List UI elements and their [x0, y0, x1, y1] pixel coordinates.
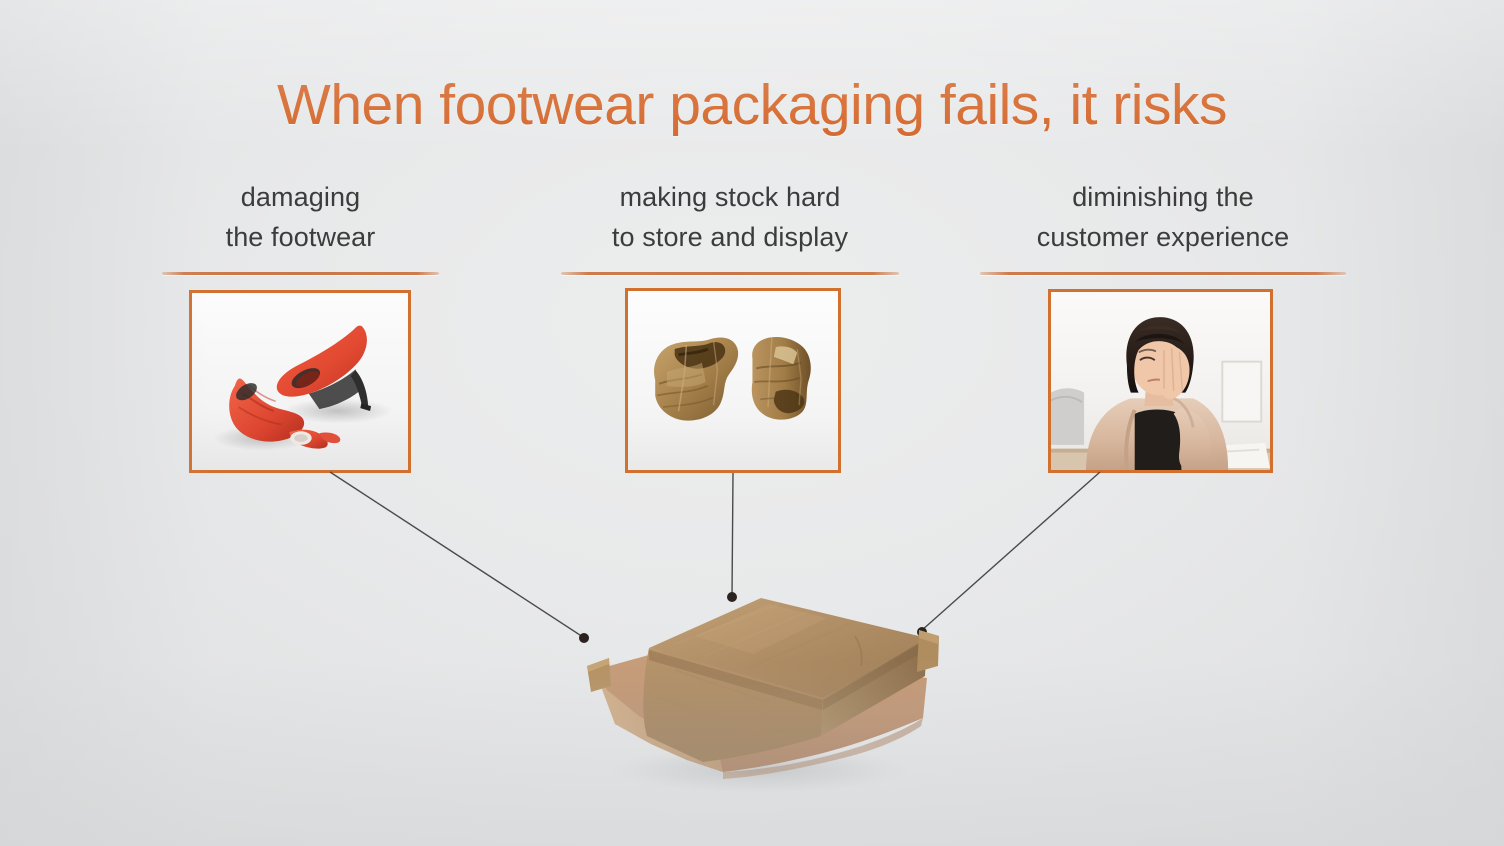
crushed-cardboard-shoebox-illustration	[555, 558, 955, 793]
caption-underline-3	[980, 272, 1346, 275]
risk-column-2: making stock hard to store and display	[561, 178, 899, 275]
risk-image-frame-2	[625, 288, 841, 473]
crushed-cardboard-shoebox	[555, 558, 955, 793]
page-title: When footwear packaging fails, it risks	[0, 76, 1504, 136]
slide-canvas: When footwear packaging fails, it risks …	[0, 0, 1504, 846]
risk-caption-1: damaging the footwear	[162, 178, 439, 258]
caption-underline-2	[561, 272, 899, 275]
risk-caption-2: making stock hard to store and display	[561, 178, 899, 258]
risk-image-frame-1	[189, 290, 411, 473]
risk-column-3: diminishing the customer experience	[980, 178, 1346, 275]
caption-underline-1	[162, 272, 439, 275]
risk-column-1: damaging the footwear	[162, 178, 439, 275]
frustrated-customer-photo	[1051, 292, 1270, 470]
connector-line-damaging-footwear	[330, 472, 583, 637]
crumpled-brown-paper-boxes-photo	[628, 291, 838, 470]
risk-image-frame-3	[1048, 289, 1273, 473]
damaged-red-high-heel-shoes-photo	[192, 293, 408, 470]
risk-caption-3: diminishing the customer experience	[980, 178, 1346, 258]
